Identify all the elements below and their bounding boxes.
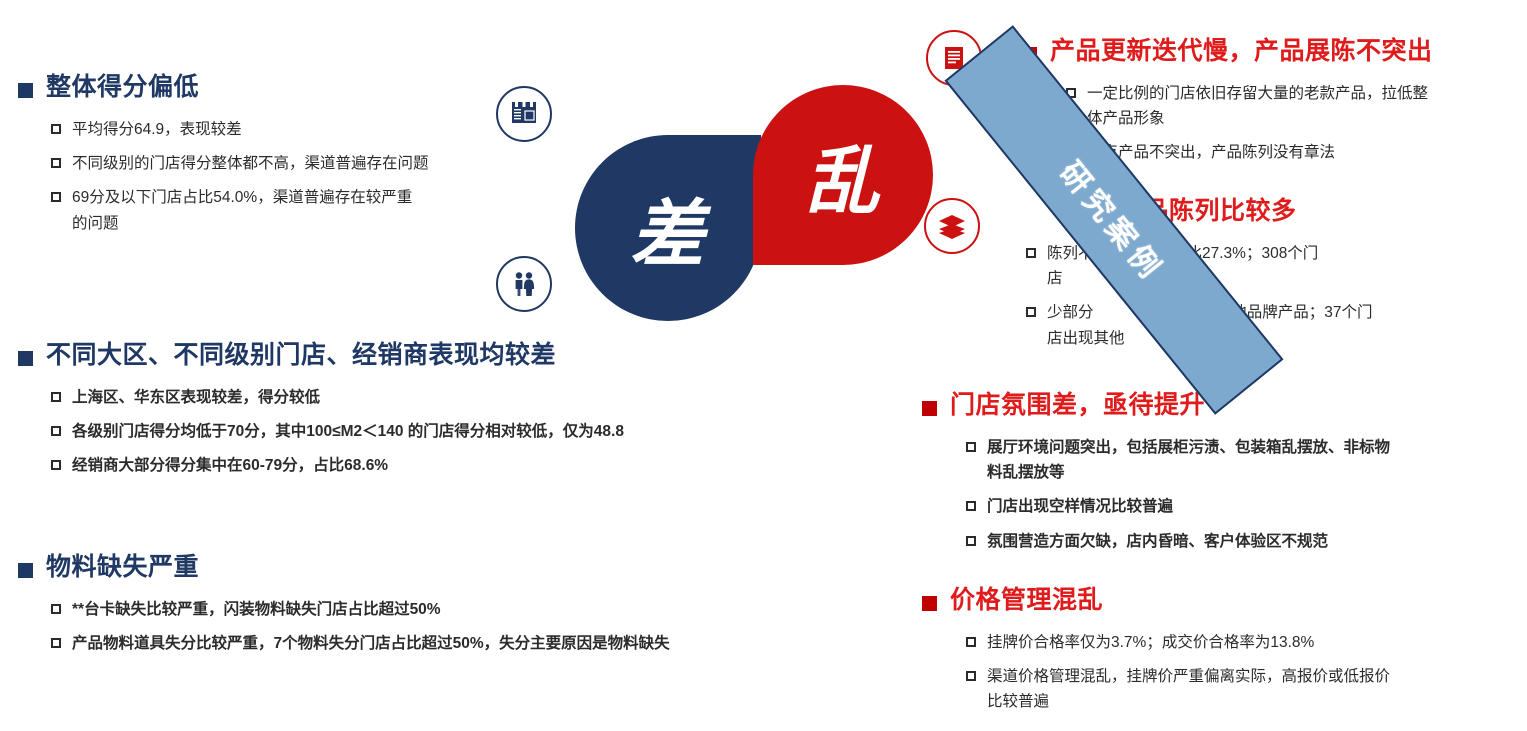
block-title: 整体得分偏低 — [46, 72, 199, 103]
list-item: 展厅环境问题突出，包括展柜污渍、包装箱乱摆放、非标物 料乱摆放等 — [966, 435, 1527, 485]
block-heading: 物料缺失严重 — [18, 552, 818, 583]
bullet-list: 陈列不规范的门店占比27.3%；308个门 店 占比63.6% 少部分 室柜陈列… — [1004, 241, 1527, 350]
list-item: 一定比例的门店依旧存留大量的老款产品，拉低整 体产品形象 — [1066, 81, 1527, 131]
layers-stack-icon — [938, 213, 966, 239]
block-heading: 价格管理混乱 — [922, 585, 1527, 616]
hollow-square-bullet-icon — [51, 158, 61, 168]
block-title: 产品更新迭代慢，产品展陈不突出 — [1050, 36, 1433, 67]
block-material-missing: 物料缺失严重 **台卡缺失比较严重，闪装物料缺失门店占比超过50% 产品物料道具… — [18, 552, 818, 665]
people-icon — [510, 270, 538, 298]
hollow-square-bullet-icon — [966, 536, 976, 546]
list-item-text: 氛围营造方面欠缺，店内昏暗、客户体验区不规范 — [987, 529, 1328, 554]
store-icon — [509, 99, 539, 129]
hollow-square-bullet-icon — [51, 638, 61, 648]
list-item-text: 一定比例的门店依旧存留大量的老款产品，拉低整 体产品形象 — [1087, 81, 1428, 131]
layers-stack-icon-badge — [924, 198, 980, 254]
list-item: 不同级别的门店得分整体都不高，渠道普遍存在问题 — [51, 151, 518, 176]
list-item: 少部分 室柜陈列其他品牌产品；37个门 店出现其他 料 — [1026, 300, 1527, 350]
bullet-list: 展厅环境问题突出，包括展柜污渍、包装箱乱摆放、非标物 料乱摆放等 门店出现空样情… — [922, 435, 1527, 553]
square-bullet-icon — [922, 596, 937, 611]
block-region-performance: 不同大区、不同级别门店、经销商表现均较差 上海区、华东区表现较差，得分较低 各级… — [18, 340, 678, 488]
hollow-square-bullet-icon — [51, 392, 61, 402]
list-item-text: 渠道价格管理混乱，挂牌价严重偏离实际，高报价或低报价 比较普遍 — [987, 664, 1390, 714]
hollow-square-bullet-icon — [51, 124, 61, 134]
square-bullet-icon — [922, 401, 937, 416]
hollow-square-bullet-icon — [966, 442, 976, 452]
hollow-square-bullet-icon — [51, 460, 61, 470]
block-price-management: 价格管理混乱 挂牌价合格率仅为3.7%；成交价合格率为13.8% 渠道价格管理混… — [922, 585, 1527, 724]
bullet-list: 上海区、华东区表现较差，得分较低 各级别门店得分均低于70分，其中100≤M2＜… — [18, 385, 678, 478]
block-title: 门店氛围差，亟待提升 — [950, 390, 1205, 421]
list-item-text: 不同级别的门店得分整体都不高，渠道普遍存在问题 — [72, 151, 429, 176]
list-item-text: 产品物料道具失分比较严重，7个物料失分门店占比超过50%，失分主要原因是物料缺失 — [72, 631, 670, 656]
block-heading: 产品更新迭代慢，产品展陈不突出 — [1022, 36, 1527, 67]
list-item-text: 经销商大部分得分集中在60-79分，占比68.6% — [72, 453, 388, 478]
square-bullet-icon — [18, 563, 33, 578]
bullet-list: 平均得分64.9，表现较差 不同级别的门店得分整体都不高，渠道普遍存在问题 69… — [18, 117, 518, 235]
slide-canvas: 整体得分偏低 平均得分64.9，表现较差 不同级别的门店得分整体都不高，渠道普遍… — [0, 0, 1527, 731]
list-item: 上海区、华东区表现较差，得分较低 — [51, 385, 678, 410]
people-icon-badge — [496, 256, 552, 312]
block-title: 物料缺失严重 — [46, 552, 199, 583]
list-item-text: **台卡缺失比较严重，闪装物料缺失门店占比超过50% — [72, 597, 441, 622]
list-item-text: 挂牌价合格率仅为3.7%；成交价合格率为13.8% — [987, 630, 1314, 655]
list-item: **台卡缺失比较严重，闪装物料缺失门店占比超过50% — [51, 597, 818, 622]
list-item: 经销商大部分得分集中在60-79分，占比68.6% — [51, 453, 678, 478]
bullet-list: **台卡缺失比较严重，闪装物料缺失门店占比超过50% 产品物料道具失分比较严重，… — [18, 597, 818, 656]
hollow-square-bullet-icon — [51, 426, 61, 436]
square-bullet-icon — [18, 83, 33, 98]
block-overall-score: 整体得分偏低 平均得分64.9，表现较差 不同级别的门店得分整体都不高，渠道普遍… — [18, 72, 518, 245]
list-item: 平均得分64.9，表现较差 — [51, 117, 518, 142]
hollow-square-bullet-icon — [51, 604, 61, 614]
bullet-list: 挂牌价合格率仅为3.7%；成交价合格率为13.8% 渠道价格管理混乱，挂牌价严重… — [922, 630, 1527, 714]
list-item-text: 平均得分64.9，表现较差 — [72, 117, 242, 142]
hollow-square-bullet-icon — [966, 501, 976, 511]
square-bullet-icon — [18, 351, 33, 366]
teardrop-shape-cha: 差 — [575, 135, 761, 321]
hollow-square-bullet-icon — [1026, 248, 1036, 258]
block-heading: 不同大区、不同级别门店、经销商表现均较差 — [18, 340, 678, 371]
teardrop-shape-luan: 乱 — [753, 85, 933, 265]
block-title: 不同大区、不同级别门店、经销商表现均较差 — [46, 340, 556, 371]
list-item-text: 门店出现空样情况比较普遍 — [987, 494, 1173, 519]
hollow-square-bullet-icon — [51, 192, 61, 202]
list-item: 69分及以下门店占比54.0%，渠道普遍存在较严重 的问题 — [51, 185, 518, 235]
list-item: 氛围营造方面欠缺，店内昏暗、客户体验区不规范 — [966, 529, 1527, 554]
block-store-ambience: 门店氛围差，亟待提升 展厅环境问题突出，包括展柜污渍、包装箱乱摆放、非标物 料乱… — [922, 390, 1527, 563]
list-item: 产品物料道具失分比较严重，7个物料失分门店占比超过50%，失分主要原因是物料缺失 — [51, 631, 818, 656]
block-title: 价格管理混乱 — [950, 585, 1103, 616]
list-item: 挂牌价合格率仅为3.7%；成交价合格率为13.8% — [966, 630, 1527, 655]
list-item: 门店出现空样情况比较普遍 — [966, 494, 1527, 519]
hollow-square-bullet-icon — [1026, 307, 1036, 317]
hollow-square-bullet-icon — [966, 671, 976, 681]
list-item-text: 展厅环境问题突出，包括展柜污渍、包装箱乱摆放、非标物 料乱摆放等 — [987, 435, 1390, 485]
list-item-text: 各级别门店得分均低于70分，其中100≤M2＜140 的门店得分相对较低，仅为4… — [72, 419, 624, 444]
list-item-text: 69分及以下门店占比54.0%，渠道普遍存在较严重 的问题 — [72, 185, 412, 235]
list-item: 渠道价格管理混乱，挂牌价严重偏离实际，高报价或低报价 比较普遍 — [966, 664, 1527, 714]
block-heading: 整体得分偏低 — [18, 72, 518, 103]
hollow-square-bullet-icon — [966, 637, 976, 647]
list-item: 各级别门店得分均低于70分，其中100≤M2＜140 的门店得分相对较低，仅为4… — [51, 419, 678, 444]
store-icon-badge — [496, 86, 552, 142]
list-item: 重点产品不突出，产品陈列没有章法 — [1066, 140, 1527, 165]
list-item-text: 上海区、华东区表现较差，得分较低 — [72, 385, 320, 410]
